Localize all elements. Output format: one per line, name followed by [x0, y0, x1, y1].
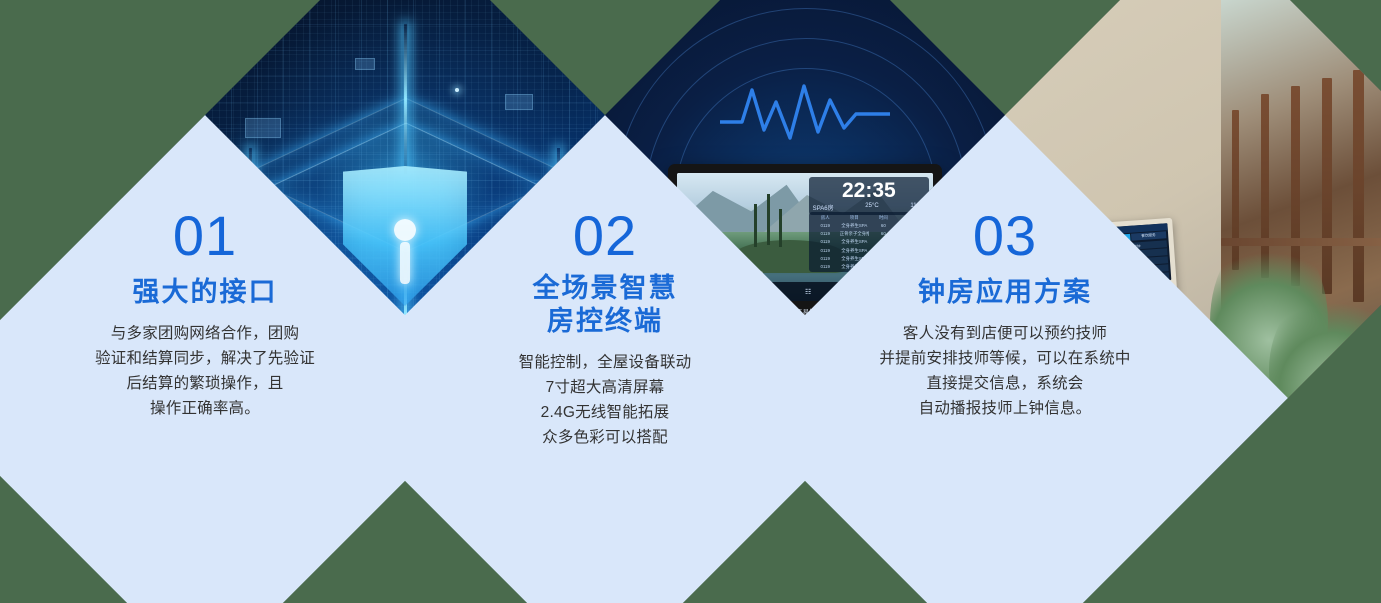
- tree-icon: [767, 194, 770, 245]
- col-header-time: 时间: [869, 214, 898, 222]
- service-cell-1: 全身养生SPA: [840, 238, 869, 246]
- col-header-guest: 房人: [811, 214, 840, 222]
- light-beam-icon: [404, 24, 407, 174]
- feature-desc-03: 客人没有到店便可以预约技师 并提前安排技师等候，可以在系统中 直接提交信息，系统…: [879, 321, 1130, 421]
- service-cell-1: 正骨亲子全身推拿: [840, 230, 869, 238]
- service-cell-0: 0119: [811, 263, 840, 271]
- service-cell-0: 0119: [811, 247, 840, 255]
- window-scene: [1221, 0, 1381, 398]
- feature-desc-02: 智能控制，全屋设备联动 7寸超大高清屏幕 2.4G无线智能拓展 众多色彩可以搭配: [519, 350, 692, 450]
- feature-title-02-line1: 全场景智慧: [533, 272, 678, 305]
- clock-temp: 25°C: [865, 203, 878, 212]
- chip-block-icon: [505, 94, 533, 110]
- keyhole-stem-icon: [400, 242, 410, 284]
- feature-card-03-content: 03 钟房应用方案 客人没有到店便可以预约技师 并提前安排技师等候，可以在系统中…: [805, 198, 1205, 598]
- heartbeat-pulse-icon: [720, 80, 890, 142]
- wood-rail: [1353, 70, 1364, 302]
- feature-number-03: 03: [973, 208, 1037, 264]
- feature-desc-01: 与多家团购网络合作，团购 验证和结算同步，解决了先验证 后结算的繁琐操作，且 操…: [95, 321, 315, 421]
- tree-icon: [779, 209, 782, 247]
- chip-block-icon: [245, 118, 281, 138]
- service-cell-0: 0119: [811, 230, 840, 238]
- tree-icon: [754, 204, 757, 248]
- chip-block-icon: [355, 58, 375, 70]
- feature-diamonds-stage: C5i2#5 22:35 SPA6房 25°C 11/24: [0, 0, 1381, 603]
- feature-title-02: 全场景智慧 房控终端: [533, 272, 678, 338]
- feature-number-02: 02: [573, 208, 637, 264]
- service-cell-0: 0119: [811, 255, 840, 263]
- spark-icon: [455, 88, 459, 92]
- keyhole-icon: [394, 219, 416, 241]
- clock-room: SPA6房: [813, 203, 834, 212]
- col-header-item: 项目: [840, 214, 869, 222]
- feature-title-03: 钟房应用方案: [918, 276, 1092, 309]
- service-cell-0: 0119: [811, 222, 840, 230]
- service-cell-0: 0119: [811, 238, 840, 246]
- apps-grid-icon[interactable]: ☷: [805, 288, 811, 296]
- wood-rail: [1322, 78, 1332, 294]
- service-cell-1: 全身养生SPA: [840, 222, 869, 230]
- service-cell-1: 全身养生SPA: [840, 247, 869, 255]
- clock-time: 22:35: [813, 180, 925, 201]
- feature-title-01: 强大的接口: [133, 276, 278, 309]
- feature-number-01: 01: [173, 208, 237, 264]
- feature-title-02-line2: 房控终端: [533, 305, 678, 338]
